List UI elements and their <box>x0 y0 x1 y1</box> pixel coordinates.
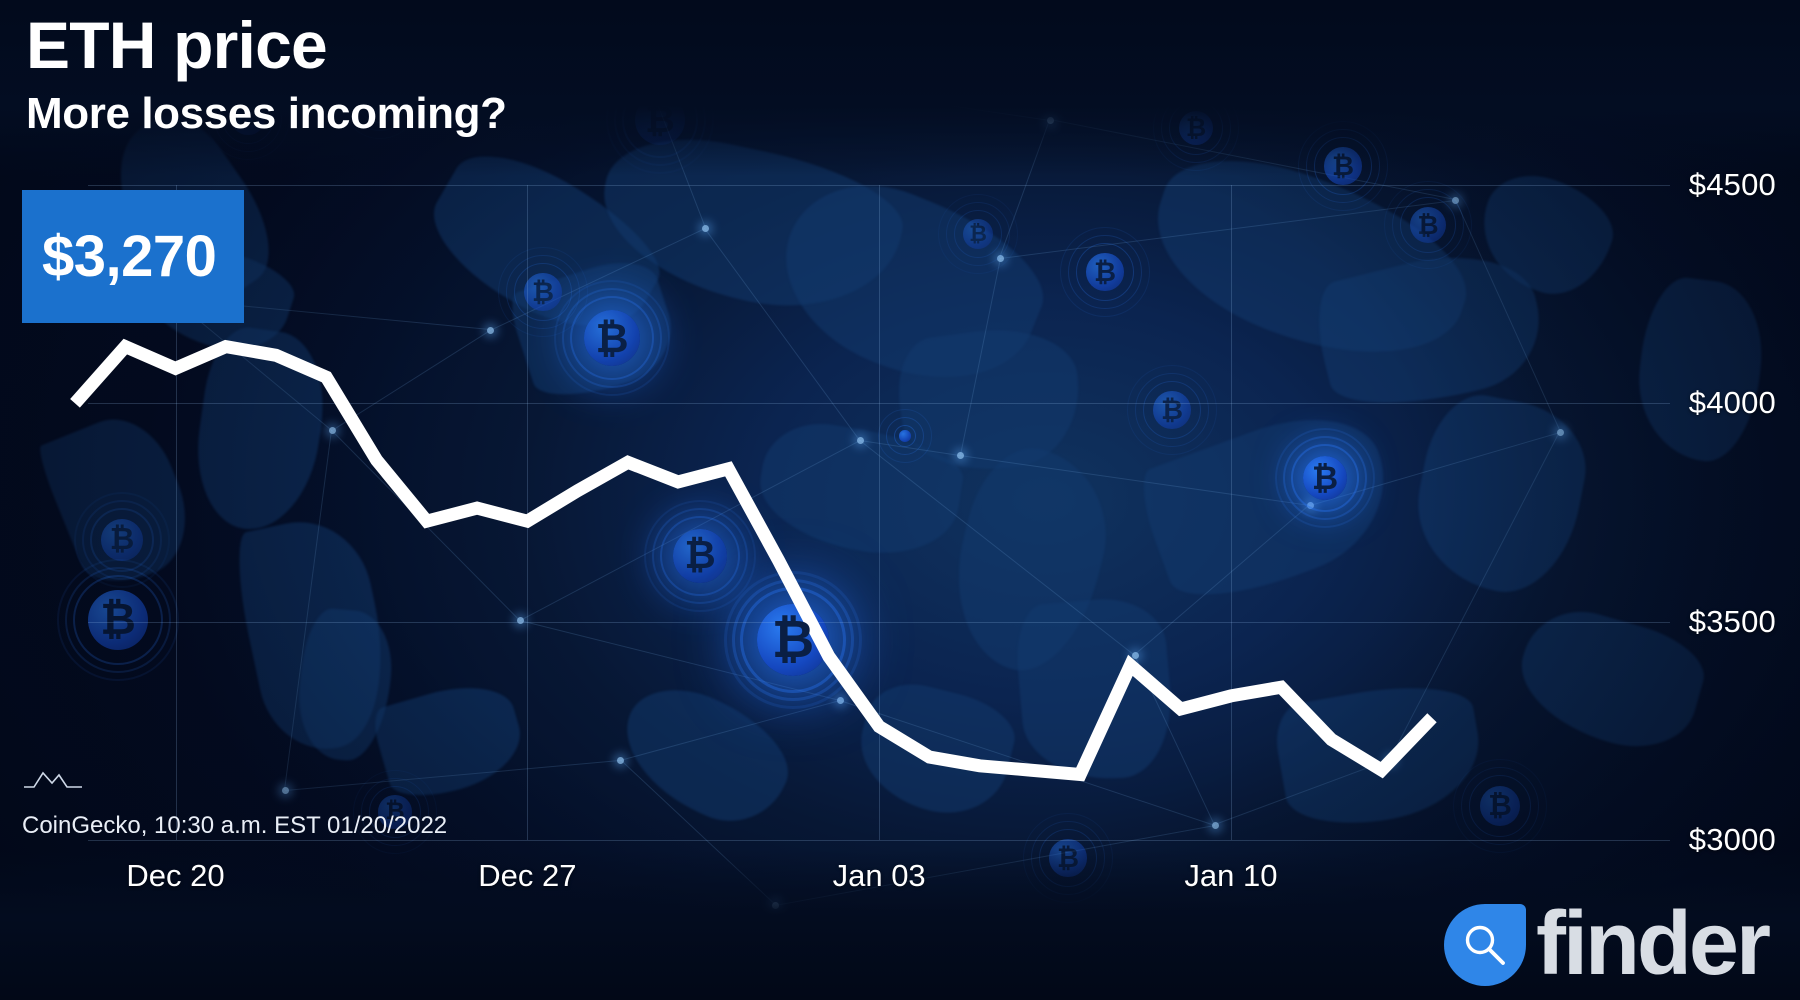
magnifier-icon <box>1444 904 1526 986</box>
y-axis-tick-label: $3500 <box>1689 604 1776 640</box>
page-title: ETH price <box>26 12 327 78</box>
price-badge: $3,270 <box>22 190 244 323</box>
x-axis-tick-label: Dec 20 <box>126 858 224 894</box>
bitcoin-symbol: ₿ <box>772 610 814 670</box>
page-subtitle: More losses incoming? <box>26 92 507 136</box>
y-axis-tick-label: $4000 <box>1689 385 1776 421</box>
mountain-chart-icon <box>22 768 84 790</box>
x-axis-tick-label: Dec 27 <box>478 858 576 894</box>
price-line-chart <box>0 0 1800 1000</box>
price-badge-value: $3,270 <box>22 223 216 290</box>
chart-canvas: ₿₿₿₿₿₿₿₿₿₿₿₿₿₿₿₿₿₿₿ $4500$4000$3500$3000… <box>0 0 1800 1000</box>
bitcoin-symbol: ₿ <box>1312 460 1338 497</box>
y-axis-tick-label: $3000 <box>1689 822 1776 858</box>
y-axis-tick-label: $4500 <box>1689 167 1776 203</box>
x-axis-tick-label: Jan 10 <box>1184 858 1277 894</box>
finder-logo[interactable]: finder <box>1444 904 1768 986</box>
finder-wordmark: finder <box>1536 908 1768 982</box>
source-attribution: CoinGecko, 10:30 a.m. EST 01/20/2022 <box>22 812 447 840</box>
x-axis-tick-label: Jan 03 <box>833 858 926 894</box>
